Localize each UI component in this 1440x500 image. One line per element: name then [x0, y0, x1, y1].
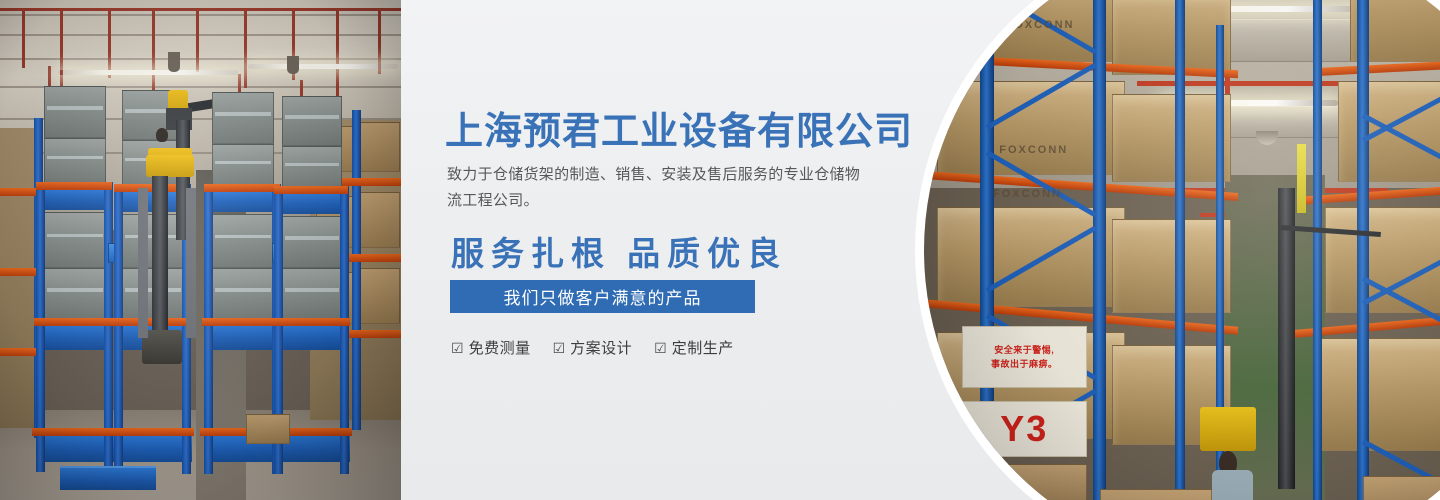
- aisle-identifier-sign: Y3: [962, 401, 1087, 457]
- blue-pallet: [36, 432, 114, 462]
- forklift-mast-lower: [152, 176, 168, 332]
- palletised-load: [1313, 338, 1440, 451]
- floor-pallet-stack: [1363, 476, 1440, 500]
- carton-stack: [360, 192, 400, 248]
- feature-list: ☑ 免费测量 ☑ 方案设计 ☑ 定制生产: [451, 337, 734, 358]
- plastic-tote: [44, 86, 106, 138]
- company-headline: 上海预君工业设备有限公司: [445, 100, 913, 155]
- rack-upright: [1357, 0, 1370, 500]
- sprinkler-drop: [336, 8, 339, 96]
- floor-pallet-stack: [949, 464, 1087, 500]
- palletised-load: [1325, 207, 1440, 314]
- right-warehouse-photo: FOXCONN FOXCONN FOXCONN FOXCONN: [924, 0, 1440, 500]
- carton-brand-text: FOXCONN: [1006, 19, 1075, 31]
- floor-pallet-stack: [1100, 489, 1213, 500]
- forklift-operator: [156, 128, 168, 142]
- reach-truck-mast: [1278, 188, 1294, 489]
- checkbox-checked-icon: ☑: [654, 341, 667, 355]
- plastic-tote: [282, 268, 342, 320]
- hero-banner: D-07 D-06: [0, 0, 1440, 500]
- plastic-tote: [282, 216, 342, 268]
- plastic-tote: [44, 212, 106, 268]
- rack-beam: [274, 186, 348, 194]
- plastic-tote: [212, 144, 274, 188]
- brand-slogan: 服务扎根 品质优良: [451, 227, 787, 275]
- carton-stack: [360, 122, 400, 172]
- rack-upright: [1175, 0, 1185, 500]
- rack-beam: [110, 428, 194, 436]
- sprinkler-drop: [152, 8, 155, 92]
- rack-beam: [272, 318, 350, 326]
- carton-stack: [360, 268, 400, 324]
- plastic-tote: [282, 146, 342, 190]
- forklift-overhead-guard: [1200, 407, 1256, 451]
- plastic-tote: [212, 268, 274, 320]
- rack-beam: [34, 318, 114, 326]
- feature-item-scheme-design: ☑ 方案设计: [553, 337, 633, 358]
- rack-upright: [1313, 0, 1322, 500]
- sprinkler-drop: [108, 8, 111, 78]
- blue-pallet: [206, 322, 280, 350]
- checkbox-checked-icon: ☑: [553, 341, 566, 355]
- plastic-tote: [44, 268, 106, 320]
- carton-brand-text: FOXCONN: [993, 188, 1062, 200]
- left-warehouse-photo: D-07 D-06: [0, 0, 401, 500]
- rack-upright: [1093, 0, 1106, 500]
- feature-label: 方案设计: [570, 337, 632, 358]
- rack-beam: [32, 428, 116, 436]
- feature-label: 定制生产: [672, 337, 734, 358]
- forklift-chassis: [142, 330, 182, 364]
- aisle-floor: [1225, 175, 1325, 500]
- plastic-tote: [212, 92, 274, 144]
- floor-carton: [246, 414, 290, 444]
- checkbox-checked-icon: ☑: [451, 341, 464, 355]
- ceiling-fixture: [168, 52, 180, 72]
- feature-item-custom-production: ☑ 定制生产: [654, 337, 734, 358]
- safety-warning-sign: 安全来于警惕, 事故出于麻痹。: [962, 326, 1087, 389]
- rack-beam: [204, 184, 280, 192]
- feature-label: 免费测量: [469, 337, 531, 358]
- safety-sign-line-1: 安全来于警惕,: [994, 343, 1054, 357]
- sprinkler-drop: [196, 8, 199, 72]
- palletised-load: [1112, 219, 1231, 313]
- sprinkler-drop: [22, 8, 25, 68]
- carton-brand-text: FOXCONN: [999, 144, 1068, 156]
- ceiling-light: [248, 64, 398, 69]
- ceiling-fixture: [287, 56, 299, 74]
- plastic-tote: [282, 96, 342, 146]
- banner-copy: 上海预君工业设备有限公司 致力于仓储货架的制造、销售、安装及售后服务的专业仓储物…: [445, 0, 915, 500]
- rack-beam: [202, 318, 282, 326]
- rack-upright: [352, 110, 361, 430]
- feature-item-free-measure: ☑ 免费测量: [451, 337, 531, 358]
- forklift-rail: [186, 188, 196, 338]
- right-photo-circle-frame: FOXCONN FOXCONN FOXCONN FOXCONN: [915, 0, 1440, 500]
- plastic-tote: [44, 138, 106, 184]
- forklift-cab: [146, 155, 194, 177]
- blue-pallet: [60, 466, 156, 490]
- blue-pallet: [38, 322, 112, 350]
- safety-sign-line-2: 事故出于麻痹。: [991, 357, 1058, 371]
- forklift-operator-body: [1212, 470, 1253, 500]
- mast-guard: [1297, 144, 1306, 213]
- cta-button[interactable]: 我们只做客户满意的产品: [450, 280, 755, 313]
- forklift-rail: [138, 188, 148, 338]
- sprinkler-drop: [244, 8, 247, 88]
- ceiling-light: [58, 70, 238, 75]
- company-subtitle: 致力于仓储货架的制造、销售、安装及售后服务的专业仓储物流工程公司。: [447, 162, 863, 214]
- blue-pallet: [276, 322, 348, 350]
- blue-pallet: [114, 432, 192, 462]
- plastic-tote: [212, 214, 274, 268]
- palletised-load: [1112, 94, 1231, 182]
- rack-beam: [36, 182, 112, 190]
